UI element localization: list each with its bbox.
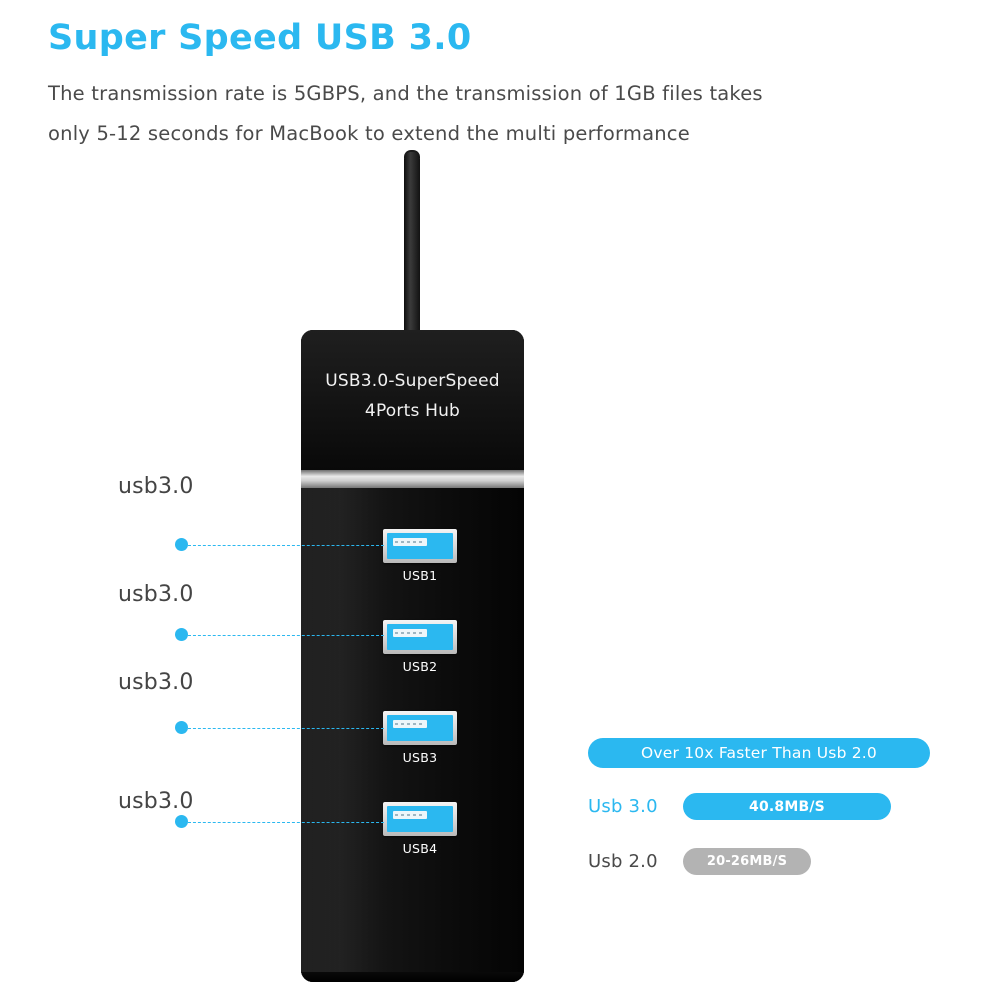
usb-port-2-tongue xyxy=(393,629,427,637)
usb-port-3-tongue xyxy=(393,720,427,728)
hub-silver-strip xyxy=(301,470,524,488)
callout-label-2: usb3.0 xyxy=(118,582,194,607)
usb-port-4-label: USB4 xyxy=(383,841,457,856)
speed-row-usb20: Usb 2.0 20-26MB/S xyxy=(588,848,811,875)
hub-bottom-edge xyxy=(301,972,524,982)
usb-port-1-inner xyxy=(387,533,453,559)
usb-port-1-label: USB1 xyxy=(383,568,457,583)
callout-label-1: usb3.0 xyxy=(118,474,194,499)
callout-line-1 xyxy=(188,545,384,546)
callout-label-4: usb3.0 xyxy=(118,789,194,814)
callout-dot-2 xyxy=(175,628,188,641)
callout-dot-4 xyxy=(175,815,188,828)
usb-port-2-inner xyxy=(387,624,453,650)
usb-cable xyxy=(404,152,420,342)
usb-port-4-inner xyxy=(387,806,453,832)
callout-line-2 xyxy=(188,635,384,636)
hub-brand-label: USB3.0-SuperSpeed 4Ports Hub xyxy=(301,366,524,426)
callout-line-3 xyxy=(188,728,384,729)
usb-port-3-label: USB3 xyxy=(383,750,457,765)
usb-port-3 xyxy=(383,711,457,745)
callout-label-3: usb3.0 xyxy=(118,670,194,695)
speed-row-usb20-value: 20-26MB/S xyxy=(683,848,811,875)
usb-port-2-label: USB2 xyxy=(383,659,457,674)
usb-port-4-tongue xyxy=(393,811,427,819)
description-line-2: only 5-12 seconds for MacBook to extend … xyxy=(48,122,690,145)
speed-row-usb30: Usb 3.0 40.8MB/S xyxy=(588,793,891,820)
usb-hub-body: USB3.0-SuperSpeed 4Ports Hub xyxy=(301,330,524,982)
usb-port-1-tongue xyxy=(393,538,427,546)
speed-row-usb30-name: Usb 3.0 xyxy=(588,796,683,817)
hub-gloss-highlight xyxy=(301,488,386,982)
usb-port-4 xyxy=(383,802,457,836)
usb-port-1 xyxy=(383,529,457,563)
hub-label-line-1: USB3.0-SuperSpeed xyxy=(301,366,524,396)
speed-row-usb30-value: 40.8MB/S xyxy=(683,793,891,820)
description-line-1: The transmission rate is 5GBPS, and the … xyxy=(48,82,763,105)
callout-dot-1 xyxy=(175,538,188,551)
speed-row-usb20-name: Usb 2.0 xyxy=(588,851,683,872)
page-title: Super Speed USB 3.0 xyxy=(48,18,472,58)
usb-port-2 xyxy=(383,620,457,654)
callout-dot-3 xyxy=(175,721,188,734)
usb-port-3-inner xyxy=(387,715,453,741)
speed-banner: Over 10x Faster Than Usb 2.0 xyxy=(588,738,930,768)
hub-label-line-2: 4Ports Hub xyxy=(301,396,524,426)
callout-line-4 xyxy=(188,822,384,823)
hub-top-face: USB3.0-SuperSpeed 4Ports Hub xyxy=(301,330,524,470)
